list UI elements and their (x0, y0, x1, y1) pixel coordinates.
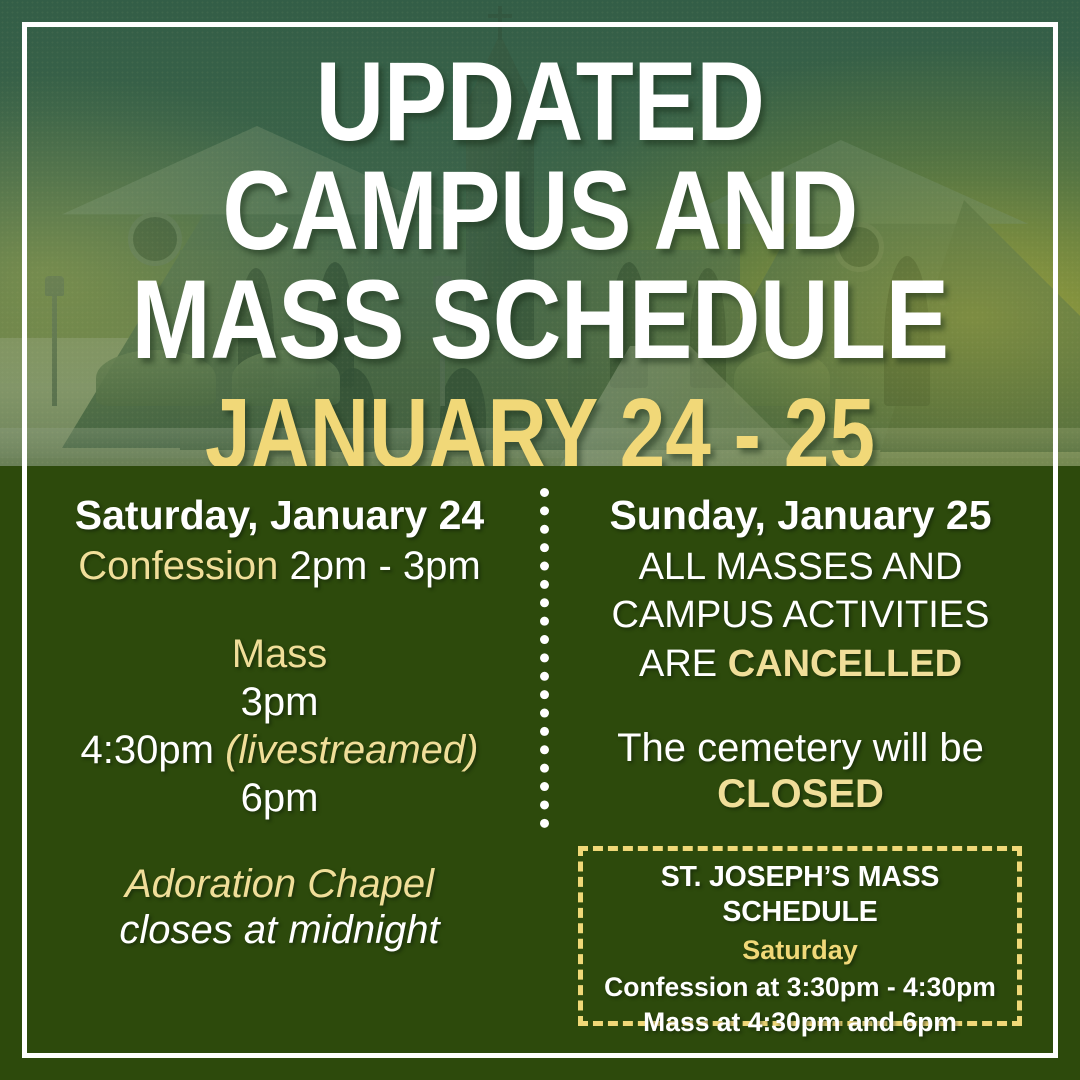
poster-canvas: UPDATED CAMPUS AND MASS SCHEDULE JANUARY… (0, 0, 1080, 1080)
st-josephs-line-2: Mass at 4:30pm and 6pm (583, 1005, 1017, 1041)
notice-status-badge: CANCELLED (728, 643, 962, 685)
st-josephs-title: ST. JOSEPH’S MASS SCHEDULE (583, 860, 1017, 930)
mass-time-2-row: 4:30pm (livestreamed) (41, 727, 518, 773)
saturday-column: Saturday, January 24 Confession 2pm - 3p… (27, 466, 540, 1053)
st-josephs-day: Saturday (583, 933, 1017, 968)
st-josephs-schedule-box: ST. JOSEPH’S MASS SCHEDULE Saturday Conf… (578, 846, 1022, 1026)
saturday-confession-row: Confession 2pm - 3pm (41, 543, 518, 589)
adoration-line-1: Adoration Chapel (41, 861, 518, 907)
mass-time-1: 3pm (41, 679, 518, 725)
saturday-mass-block: Mass 3pm 4:30pm (livestreamed) 6pm (41, 631, 518, 821)
confession-label: Confession (78, 544, 278, 588)
saturday-title: Saturday, January 24 (41, 492, 518, 539)
spacer-1 (41, 589, 518, 629)
hero-photo-band: UPDATED CAMPUS AND MASS SCHEDULE JANUARY… (0, 0, 1080, 466)
sunday-notice-line-3: ARE CANCELLED (562, 640, 1039, 689)
sunday-title: Sunday, January 25 (562, 492, 1039, 539)
cemetery-text: The cemetery will be (562, 725, 1039, 771)
headline-block: UPDATED CAMPUS AND MASS SCHEDULE JANUARY… (0, 48, 1080, 466)
sunday-notice-line-1: ALL MASSES AND (562, 543, 1039, 592)
headline-date-range: JANUARY 24 - 25 (0, 385, 1080, 466)
column-divider (540, 488, 549, 828)
sunday-notice-line-2: CAMPUS ACTIVITIES (562, 591, 1039, 640)
headline-line-3: MASS SCHEDULE (0, 266, 1080, 376)
mass-label: Mass (41, 631, 518, 677)
headline-line-1: UPDATED (0, 48, 1080, 158)
st-josephs-line-1: Confession at 3:30pm - 4:30pm (583, 970, 1017, 1006)
adoration-line-2: closes at midnight (41, 907, 518, 953)
mass-time-2-note: (livestreamed) (225, 728, 478, 772)
confession-time: 2pm - 3pm (290, 544, 481, 588)
mass-time-2: 4:30pm (81, 728, 214, 772)
headline-line-2: CAMPUS AND (0, 157, 1080, 267)
spacer-3 (562, 689, 1039, 725)
mass-time-3: 6pm (41, 775, 518, 821)
cemetery-status-badge: CLOSED (562, 771, 1039, 817)
spacer-2 (41, 821, 518, 861)
notice-prefix: ARE (639, 643, 728, 685)
